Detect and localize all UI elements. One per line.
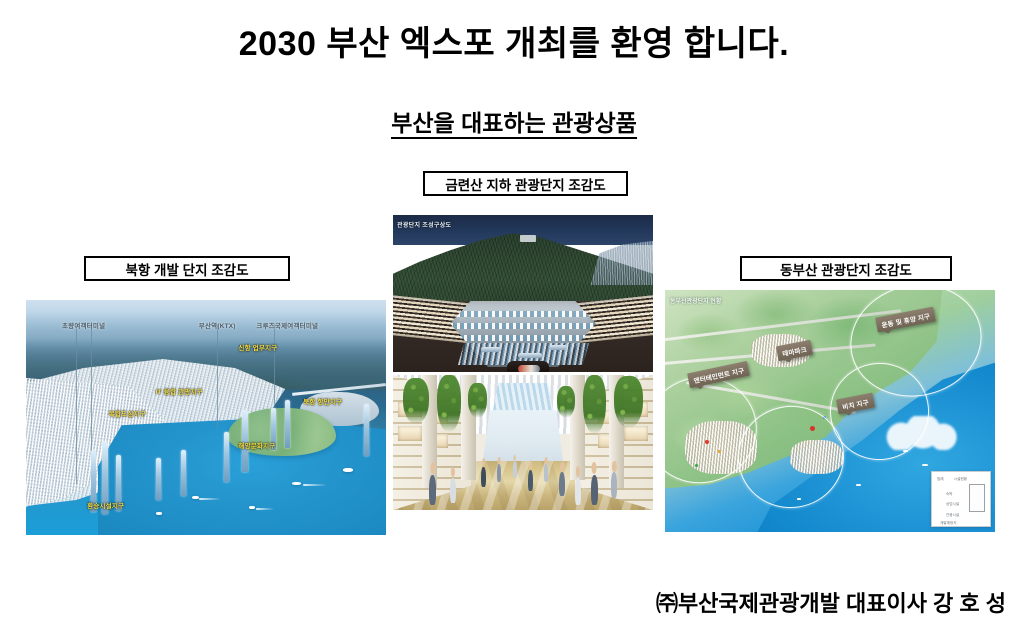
page-subtitle-text: 부산을 대표하는 관광상품 — [391, 110, 637, 139]
map-overlay-label: 동부산관광단지 현황 — [670, 296, 721, 305]
atrium-shopper — [559, 472, 565, 496]
aerial-boat — [192, 496, 199, 499]
aerial-leader-line — [274, 324, 275, 406]
atrium-shopper — [611, 472, 617, 498]
page-subtitle: 부산을 대표하는 관광상품 — [0, 104, 1028, 138]
map-legend-row-lodging: 숙박 — [946, 492, 953, 497]
aerial-label-mixed-use-downtown-district: 복합도심지구 — [109, 408, 146, 418]
caption-north-port: 북항 개발 단지 조감도 — [84, 256, 290, 281]
aerial-tower — [285, 400, 290, 448]
atrium-shopper — [450, 478, 456, 504]
atrium-hanging-plants — [403, 378, 429, 424]
atrium-shopper — [528, 470, 533, 492]
cutaway-level-deck — [450, 311, 596, 317]
map-legend-title-right: 시설현황 — [954, 477, 967, 482]
aerial-tower — [156, 458, 161, 500]
cutaway-overlay-label: 관광단지 조성구상도 — [397, 220, 451, 229]
figure-north-port-aerial: 초량여객터미널 부산역(KTX) 크루즈국제여객터미널 신항 업무지구 IT 융… — [26, 300, 386, 535]
aerial-ship — [343, 468, 353, 472]
cutaway-tunnel-train — [518, 365, 540, 372]
cutaway-distant-city — [591, 241, 653, 285]
atrium-shop-window — [398, 426, 421, 441]
caption-east-busan: 동부산 관광단지 조감도 — [740, 256, 952, 281]
cutaway-train — [481, 347, 501, 352]
map-legend-title-left: 범례 — [937, 477, 944, 482]
presenter-credit: ㈜부산국제관광개발 대표이사 강 호 성 — [656, 586, 1006, 618]
map-boat — [903, 450, 908, 452]
figure-geumnyeonsan-pair: 관광단지 조성구상도 — [393, 215, 653, 510]
aerial-boat-wake — [199, 498, 221, 500]
caption-geumnyeonsan-underground: 금련산 지하 관광단지 조감도 — [423, 171, 628, 196]
atrium-hanging-plants — [557, 386, 575, 418]
aerial-label-north-port-harbor-district: 북항 항만지구 — [303, 396, 342, 406]
aerial-boat-wake — [303, 484, 327, 486]
cutaway-level-deck — [450, 335, 596, 341]
map-legend-swatch — [969, 484, 985, 512]
cutaway-train — [518, 353, 542, 358]
cutaway-train — [549, 345, 567, 350]
aerial-boat-wake — [256, 508, 274, 510]
atrium-shopper — [513, 461, 517, 477]
aerial-boat — [292, 482, 301, 485]
figure-atrium-interior-rendering — [393, 375, 653, 510]
atrium-hanging-plants — [468, 383, 486, 418]
aerial-label-transfer-facility-district: 환승시설지구 — [87, 500, 124, 510]
atrium-shopper — [429, 475, 436, 505]
page-title: 2030 부산 엑스포 개최를 환영 합니다. — [0, 16, 1028, 65]
map-legend-row-planned: 개발예정지 — [940, 521, 957, 526]
aerial-boat — [156, 512, 162, 515]
aerial-label-marine-culture-district: 해양문화지구 — [238, 440, 275, 450]
atrium-hanging-plants — [437, 375, 460, 432]
aerial-leader-line — [217, 324, 218, 428]
map-legend: 범례 시설현황 숙박 상업시설 관광시설 개발예정지 — [931, 471, 991, 527]
aerial-leader-line — [76, 324, 77, 484]
atrium-hanging-plants — [614, 376, 643, 427]
map-legend-row-tourism: 관광시설 — [946, 513, 959, 518]
cutaway-level-deck — [450, 323, 596, 329]
aerial-tower — [224, 432, 229, 482]
aerial-tower — [364, 404, 369, 456]
atrium-shopper — [497, 464, 501, 482]
aerial-tower — [181, 450, 186, 496]
aerial-boat — [249, 506, 255, 509]
aerial-label-busan-station: 부산역(KTX) — [199, 320, 236, 330]
map-boat — [797, 498, 801, 500]
atrium-shop-window — [624, 426, 647, 441]
aerial-label-it-convergence-tourism-district: IT 융합 관광지구 — [156, 386, 203, 396]
atrium-shopper — [575, 478, 581, 505]
atrium-shopper — [591, 475, 598, 505]
map-legend-row-commercial: 상업시설 — [946, 502, 959, 507]
atrium-shopper — [544, 464, 548, 482]
cutaway-summit-marker — [520, 235, 536, 242]
aerial-label-choryang-terminal: 초량여객터미널 — [62, 320, 105, 330]
figure-east-busan-complex-map: 엔터테인먼트 지구 테마파크 비치 지구 운동 및 휴양 지구 동부산관광단지 … — [665, 290, 995, 532]
figure-underground-complex-cutaway: 관광단지 조성구상도 — [393, 215, 653, 372]
map-boat — [856, 484, 861, 486]
aerial-label-cruise-terminal: 크루즈국제여객터미널 — [256, 320, 318, 330]
aerial-label-new-port-business-district: 신항 업무지구 — [238, 342, 277, 352]
